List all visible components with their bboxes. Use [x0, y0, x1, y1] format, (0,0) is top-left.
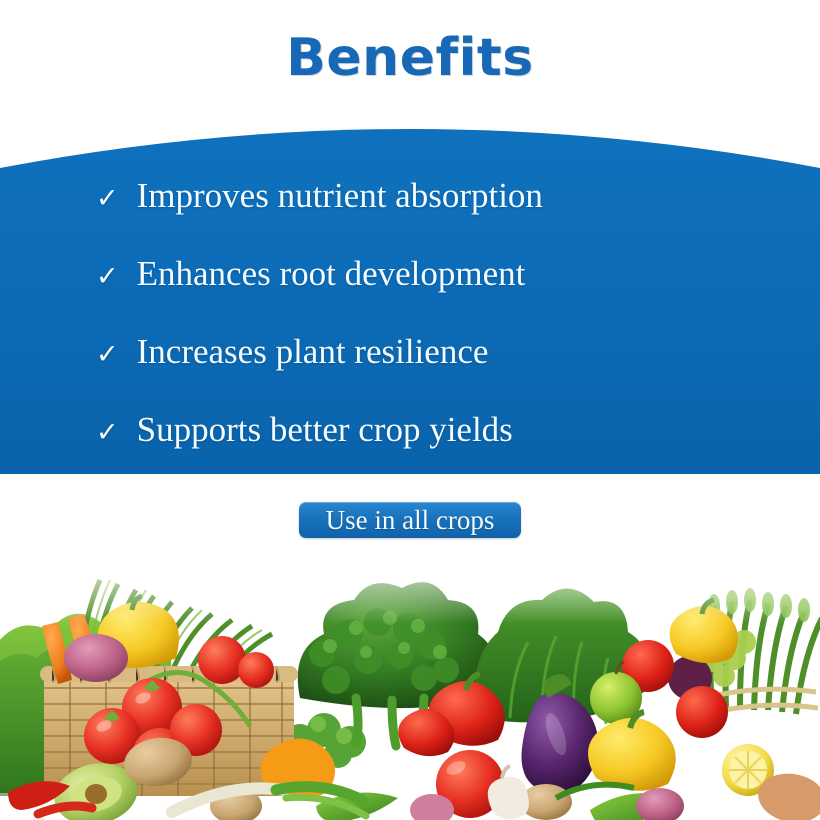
badge-label: Use in all crops [326, 507, 495, 534]
list-item: ✓ Enhances root development [96, 256, 525, 291]
check-icon: ✓ [96, 419, 119, 446]
list-item-label: Enhances root development [137, 256, 526, 291]
check-icon: ✓ [96, 341, 119, 368]
benefits-list: ✓ Improves nutrient absorption ✓ Enhance… [0, 108, 820, 474]
use-in-all-crops-badge[interactable]: Use in all crops [299, 502, 521, 538]
list-item: ✓ Improves nutrient absorption [96, 178, 543, 213]
check-icon: ✓ [96, 185, 119, 212]
produce-photo [0, 548, 820, 820]
list-item: ✓ Increases plant resilience [96, 334, 488, 369]
list-item: ✓ Supports better crop yields [96, 412, 513, 447]
list-item-label: Improves nutrient absorption [137, 178, 543, 213]
benefits-panel: ✓ Improves nutrient absorption ✓ Enhance… [0, 108, 820, 474]
benefits-poster: Benefits ✓ Improves nutrient absorption … [0, 0, 820, 820]
list-item-label: Increases plant resilience [137, 334, 489, 369]
page-title: Benefits [0, 28, 820, 88]
check-icon: ✓ [96, 263, 119, 290]
produce-illustration [0, 548, 820, 820]
list-item-label: Supports better crop yields [137, 412, 513, 447]
